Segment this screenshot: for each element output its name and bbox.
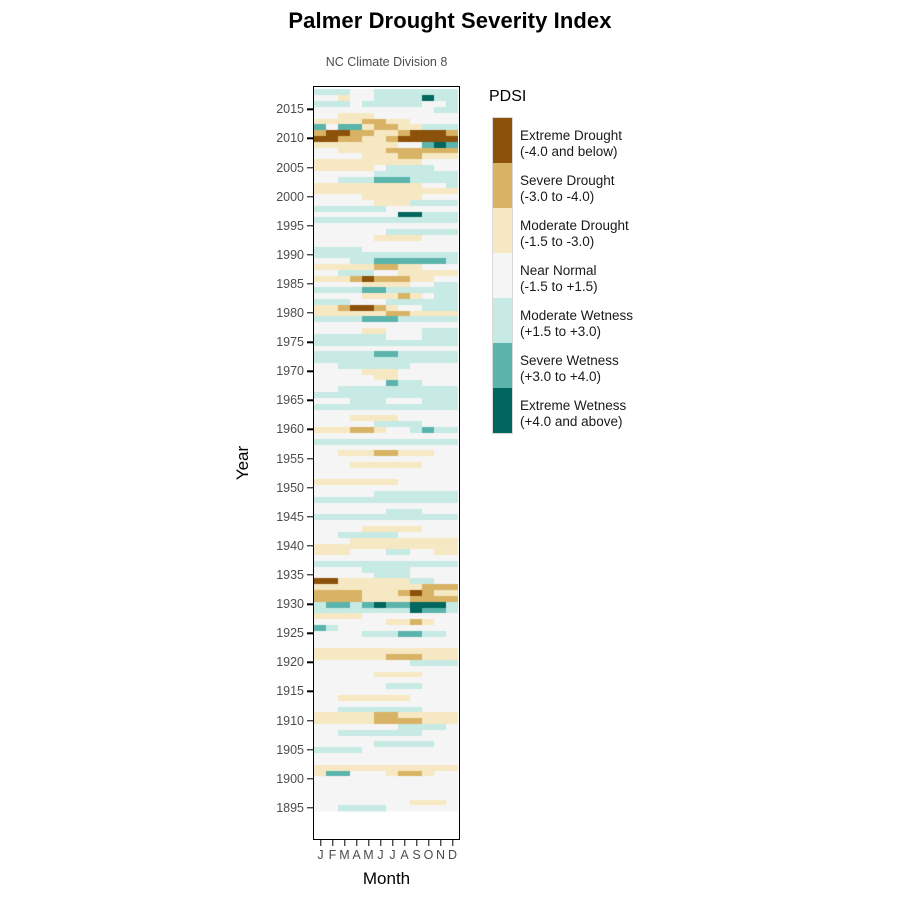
y-tick-mark bbox=[307, 662, 313, 663]
x-tick-mark bbox=[380, 840, 381, 846]
x-tick-label: F bbox=[329, 848, 337, 862]
y-tick-label: 1960 bbox=[276, 422, 304, 436]
legend-entry: Severe Drought(-3.0 to -4.0) bbox=[520, 173, 615, 204]
y-tick-mark bbox=[307, 225, 313, 226]
heatmap-plot-panel bbox=[313, 86, 460, 840]
x-tick-label: A bbox=[400, 848, 408, 862]
legend-entry-label: Moderate Drought bbox=[520, 218, 629, 234]
x-tick-label: J bbox=[389, 848, 395, 862]
y-tick-label: 2015 bbox=[276, 102, 304, 116]
x-tick-label: M bbox=[363, 848, 373, 862]
y-tick-label: 1940 bbox=[276, 539, 304, 553]
y-tick-label: 1910 bbox=[276, 714, 304, 728]
y-tick-label: 1915 bbox=[276, 684, 304, 698]
y-tick-label: 1920 bbox=[276, 655, 304, 669]
y-tick-mark bbox=[307, 283, 313, 284]
legend-swatch bbox=[493, 298, 512, 343]
legend-entry: Moderate Wetness(+1.5 to +3.0) bbox=[520, 308, 633, 339]
y-tick-mark bbox=[307, 341, 313, 342]
legend-entry-range: (-1.5 to +1.5) bbox=[520, 279, 598, 295]
x-tick-mark bbox=[368, 840, 369, 846]
legend-entry: Extreme Drought(-4.0 and below) bbox=[520, 128, 622, 159]
y-tick-label: 1925 bbox=[276, 626, 304, 640]
legend-colorbar bbox=[492, 117, 513, 434]
x-tick-mark bbox=[404, 840, 405, 846]
y-tick-label: 1970 bbox=[276, 364, 304, 378]
legend-swatch bbox=[493, 208, 512, 253]
y-tick-mark bbox=[307, 254, 313, 255]
panel-subtitle: NC Climate Division 8 bbox=[313, 55, 460, 69]
y-tick-mark bbox=[307, 778, 313, 779]
legend-entry-range: (+3.0 to +4.0) bbox=[520, 369, 619, 385]
y-tick-label: 1905 bbox=[276, 743, 304, 757]
legend-title: PDSI bbox=[489, 88, 526, 106]
x-tick-label: J bbox=[317, 848, 323, 862]
y-tick-mark bbox=[307, 574, 313, 575]
y-axis-title: Year bbox=[233, 446, 253, 480]
y-tick-mark bbox=[307, 749, 313, 750]
legend-entry: Near Normal(-1.5 to +1.5) bbox=[520, 263, 598, 294]
legend-entry-label: Extreme Wetness bbox=[520, 398, 626, 414]
y-tick-label: 1935 bbox=[276, 568, 304, 582]
y-tick-mark bbox=[307, 691, 313, 692]
x-tick-label: M bbox=[339, 848, 349, 862]
legend-entry-range: (-3.0 to -4.0) bbox=[520, 189, 615, 205]
x-tick-label: S bbox=[412, 848, 420, 862]
legend-swatch bbox=[493, 388, 512, 433]
y-tick-mark bbox=[307, 138, 313, 139]
y-tick-mark bbox=[307, 196, 313, 197]
y-tick-mark bbox=[307, 487, 313, 488]
page-title: Palmer Drought Severity Index bbox=[0, 8, 900, 34]
legend-entry: Extreme Wetness(+4.0 and above) bbox=[520, 398, 626, 429]
y-tick-mark bbox=[307, 545, 313, 546]
x-tick-label: D bbox=[448, 848, 457, 862]
y-tick-mark bbox=[307, 312, 313, 313]
x-tick-label: N bbox=[436, 848, 445, 862]
legend-swatch bbox=[493, 163, 512, 208]
y-tick-mark bbox=[307, 167, 313, 168]
y-tick-label: 1995 bbox=[276, 219, 304, 233]
x-axis-title: Month bbox=[313, 869, 460, 889]
y-tick-label: 1955 bbox=[276, 452, 304, 466]
legend-entry-label: Severe Wetness bbox=[520, 353, 619, 369]
x-tick-label: A bbox=[352, 848, 360, 862]
legend-entry-range: (+1.5 to +3.0) bbox=[520, 324, 633, 340]
y-tick-label: 1980 bbox=[276, 306, 304, 320]
y-tick-mark bbox=[307, 458, 313, 459]
y-tick-mark bbox=[307, 371, 313, 372]
x-tick-mark bbox=[452, 840, 453, 846]
legend-swatch bbox=[493, 253, 512, 298]
y-tick-label: 2005 bbox=[276, 161, 304, 175]
x-tick-mark bbox=[344, 840, 345, 846]
x-tick-label: J bbox=[377, 848, 383, 862]
y-tick-mark bbox=[307, 603, 313, 604]
y-tick-label: 1965 bbox=[276, 393, 304, 407]
legend-entry: Moderate Drought(-1.5 to -3.0) bbox=[520, 218, 629, 249]
legend-entry: Severe Wetness(+3.0 to +4.0) bbox=[520, 353, 619, 384]
y-tick-mark bbox=[307, 807, 313, 808]
legend-entry-range: (-1.5 to -3.0) bbox=[520, 234, 629, 250]
legend-entry-range: (+4.0 and above) bbox=[520, 414, 626, 430]
y-tick-label: 1990 bbox=[276, 248, 304, 262]
y-tick-label: 2010 bbox=[276, 131, 304, 145]
y-tick-label: 1895 bbox=[276, 801, 304, 815]
y-tick-mark bbox=[307, 516, 313, 517]
legend-entry-label: Severe Drought bbox=[520, 173, 615, 189]
x-tick-mark bbox=[428, 840, 429, 846]
y-tick-label: 1985 bbox=[276, 277, 304, 291]
legend-entry-label: Extreme Drought bbox=[520, 128, 622, 144]
y-tick-label: 1975 bbox=[276, 335, 304, 349]
y-tick-label: 1900 bbox=[276, 772, 304, 786]
legend-entry-label: Moderate Wetness bbox=[520, 308, 633, 324]
y-tick-mark bbox=[307, 400, 313, 401]
y-tick-label: 2000 bbox=[276, 190, 304, 204]
y-tick-label: 1950 bbox=[276, 481, 304, 495]
y-tick-label: 1930 bbox=[276, 597, 304, 611]
x-tick-mark bbox=[356, 840, 357, 846]
legend-swatch bbox=[493, 118, 512, 163]
x-tick-mark bbox=[332, 840, 333, 846]
x-tick-mark bbox=[320, 840, 321, 846]
x-tick-mark bbox=[440, 840, 441, 846]
x-tick-mark bbox=[416, 840, 417, 846]
y-tick-mark bbox=[307, 109, 313, 110]
y-tick-mark bbox=[307, 429, 313, 430]
y-tick-label: 1945 bbox=[276, 510, 304, 524]
y-tick-mark bbox=[307, 633, 313, 634]
legend-swatch bbox=[493, 343, 512, 388]
x-tick-mark bbox=[392, 840, 393, 846]
legend-entry-label: Near Normal bbox=[520, 263, 598, 279]
x-tick-label: O bbox=[424, 848, 434, 862]
heatmap-canvas bbox=[314, 87, 458, 838]
y-tick-mark bbox=[307, 720, 313, 721]
legend-entry-range: (-4.0 and below) bbox=[520, 144, 622, 160]
